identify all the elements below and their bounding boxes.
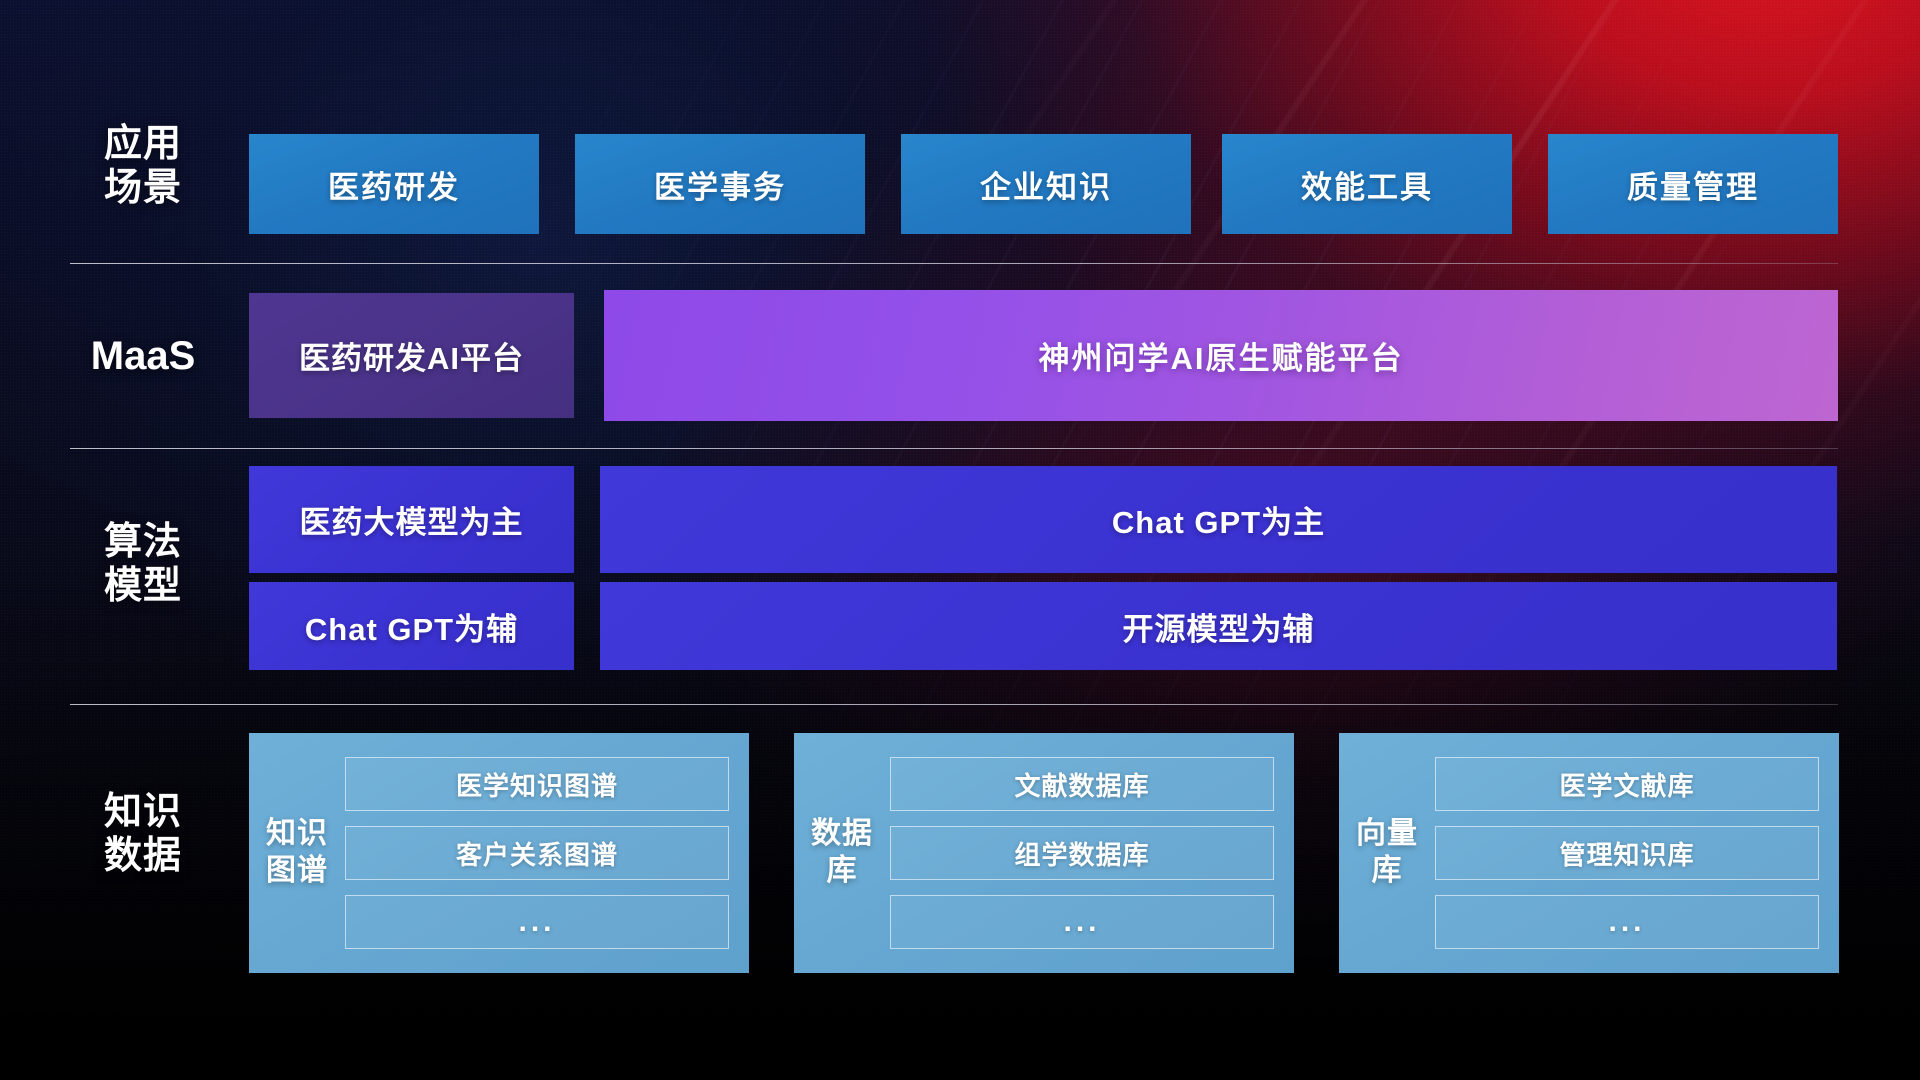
knowledge-item-medical-literature-store[interactable]: 医学文献库: [1435, 757, 1819, 811]
app-box-enterprise-knowledge[interactable]: 企业知识: [901, 134, 1191, 234]
architecture-diagram: 应用 场景 医药研发 医学事务 企业知识 效能工具 质量管理 MaaS 医药研发…: [0, 0, 1920, 1080]
knowledge-item-more-database[interactable]: ...: [890, 895, 1274, 949]
app-box-medical-affairs[interactable]: 医学事务: [575, 134, 865, 234]
divider-algorithm-knowledge: [70, 704, 1838, 705]
algo-box-chatgpt-secondary[interactable]: Chat GPT为辅: [249, 582, 574, 670]
knowledge-item-management-knowledge-store[interactable]: 管理知识库: [1435, 826, 1819, 880]
row-label-algorithm-model: 算法 模型: [78, 520, 208, 608]
knowledge-group-knowledge-graph[interactable]: 知识 图谱 医学知识图谱 客户关系图谱 ...: [249, 733, 749, 973]
maas-box-pharma-ai-platform[interactable]: 医药研发AI平台: [249, 293, 574, 418]
divider-application-maas: [70, 263, 1838, 264]
row-label-maas: MaaS: [78, 333, 208, 379]
knowledge-item-medical-knowledge-graph[interactable]: 医学知识图谱: [345, 757, 729, 811]
knowledge-group-vector-store[interactable]: 向量 库 医学文献库 管理知识库 ...: [1339, 733, 1839, 973]
knowledge-group-database[interactable]: 数据 库 文献数据库 组学数据库 ...: [794, 733, 1294, 973]
knowledge-item-literature-database[interactable]: 文献数据库: [890, 757, 1274, 811]
app-box-quality-management[interactable]: 质量管理: [1548, 134, 1838, 234]
algo-box-chatgpt-primary[interactable]: Chat GPT为主: [600, 466, 1837, 573]
knowledge-item-more-vector[interactable]: ...: [1435, 895, 1819, 949]
row-label-application-scenario: 应用 场景: [78, 122, 208, 210]
row-label-knowledge-data: 知识 数据: [78, 790, 208, 878]
divider-maas-algorithm: [70, 448, 1838, 449]
knowledge-group-title-vector-store: 向量 库: [1339, 816, 1435, 889]
knowledge-item-omics-database[interactable]: 组学数据库: [890, 826, 1274, 880]
algo-box-pharma-llm-primary[interactable]: 医药大模型为主: [249, 466, 574, 573]
knowledge-item-more-graph[interactable]: ...: [345, 895, 729, 949]
maas-box-shenzhou-wenxue-platform[interactable]: 神州问学AI原生赋能平台: [604, 290, 1838, 421]
knowledge-item-customer-relation-graph[interactable]: 客户关系图谱: [345, 826, 729, 880]
app-box-efficiency-tools[interactable]: 效能工具: [1222, 134, 1512, 234]
app-box-pharma-rd[interactable]: 医药研发: [249, 134, 539, 234]
algo-box-opensource-secondary[interactable]: 开源模型为辅: [600, 582, 1837, 670]
knowledge-group-title-database: 数据 库: [794, 816, 890, 889]
knowledge-group-title-knowledge-graph: 知识 图谱: [249, 816, 345, 889]
